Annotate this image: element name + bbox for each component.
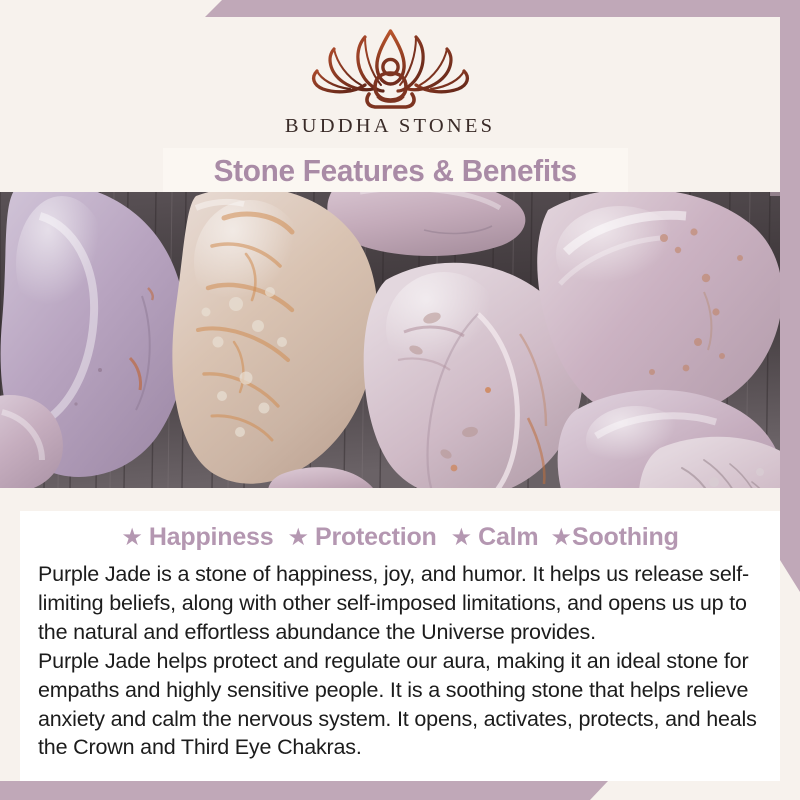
frame-bottom-border: [0, 781, 800, 800]
brand-header: BUDDHA STONES: [0, 17, 780, 146]
description-body: Purple Jade is a stone of happiness, joy…: [20, 552, 780, 762]
benefit-item-happiness: ★ Happiness: [121, 523, 273, 552]
content-card: ★ Happiness ★ Protection ★ Calm ★ Soothi…: [20, 511, 780, 781]
hero-photo: Purple Jade: [0, 192, 780, 488]
page-title: Stone Features & Benefits: [214, 153, 577, 189]
benefit-label: Happiness: [149, 523, 274, 552]
benefit-label: Calm: [478, 523, 538, 552]
benefit-item-protection: ★ Protection: [273, 523, 436, 552]
purple-jade-stones-image: [0, 192, 780, 488]
benefit-item-calm: ★ Calm: [437, 523, 539, 552]
star-icon: ★: [550, 526, 572, 550]
benefit-label: Protection: [315, 523, 437, 552]
star-icon: ★: [287, 526, 309, 550]
benefit-label: Soothing: [572, 523, 679, 552]
lotus-meditation-icon: [303, 27, 478, 110]
frame-top-border: [0, 0, 800, 17]
photo-bottom-gap: [0, 488, 780, 511]
description-paragraph-2: Purple Jade helps protect and regulate o…: [38, 647, 764, 763]
brand-name: BUDDHA STONES: [285, 115, 495, 138]
star-icon: ★: [121, 526, 143, 550]
star-icon: ★: [451, 526, 473, 550]
page-inner-surface: BUDDHA STONES Stone Features & Benefits: [0, 17, 780, 781]
frame-right-border: [780, 0, 800, 592]
title-banner: Stone Features & Benefits: [163, 148, 628, 193]
description-paragraph-1: Purple Jade is a stone of happiness, joy…: [38, 560, 764, 647]
benefits-row: ★ Happiness ★ Protection ★ Calm ★ Soothi…: [20, 511, 780, 552]
benefit-item-soothing: ★ Soothing: [538, 523, 678, 552]
